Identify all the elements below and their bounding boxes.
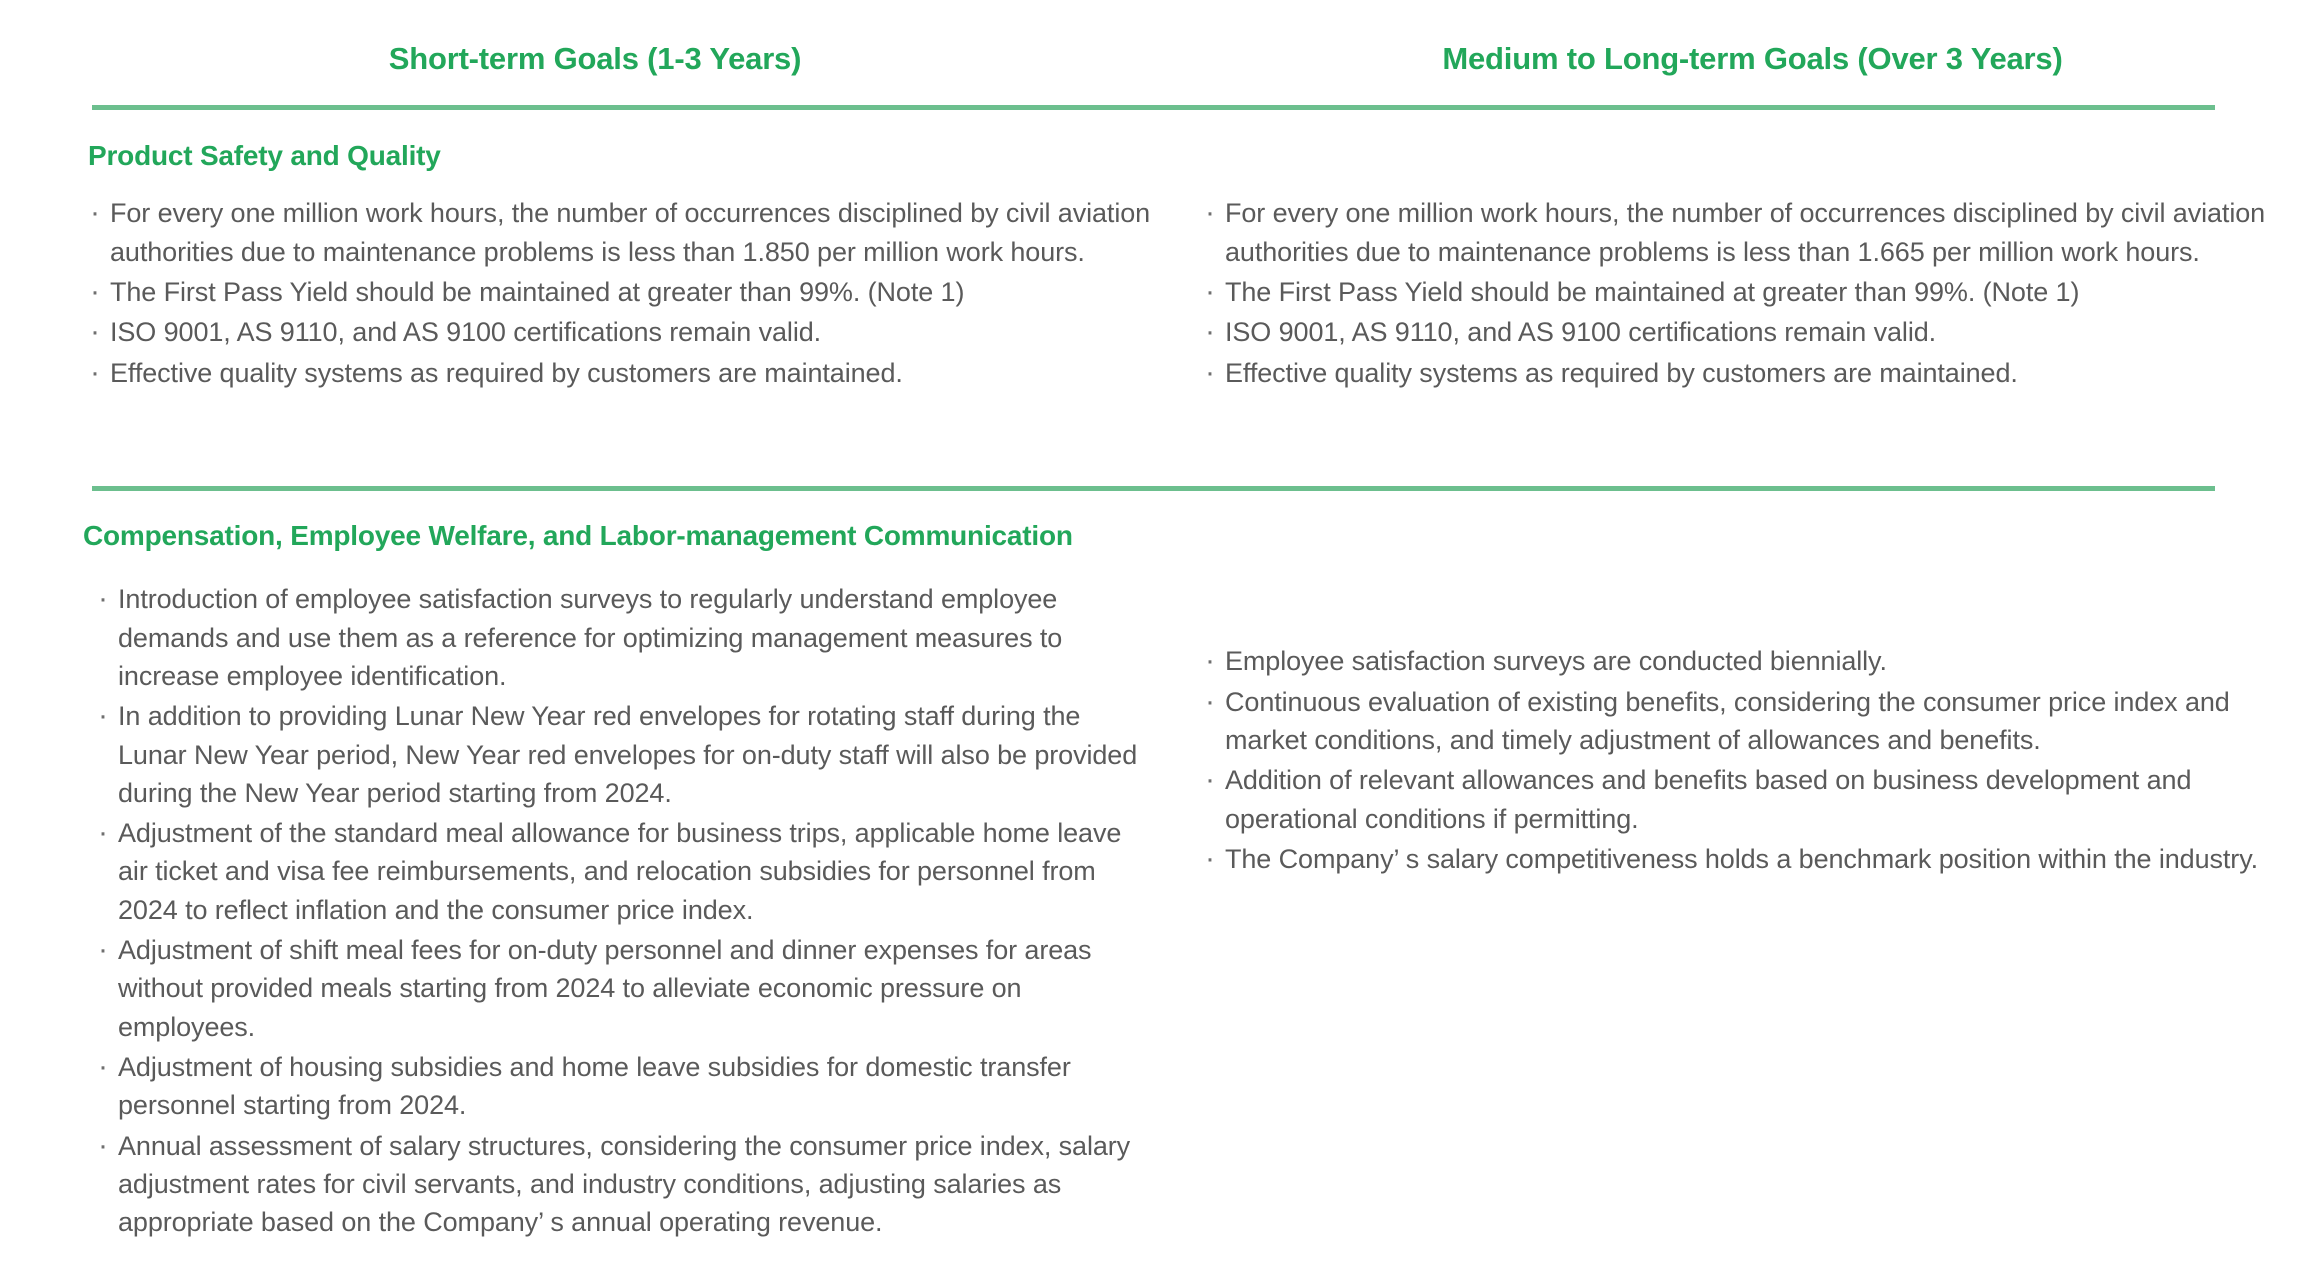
list-item: Adjustment of housing subsidies and home… (96, 1048, 1150, 1125)
list-item: Annual assessment of salary structures, … (96, 1127, 1150, 1242)
header-divider-rule (92, 105, 2215, 110)
short-term-bullet-list: For every one million work hours, the nu… (88, 194, 1160, 392)
list-item: For every one million work hours, the nu… (1203, 194, 2305, 271)
medium-long-term-bullet-list: For every one million work hours, the nu… (1203, 194, 2305, 392)
goals-table-page: Short-term Goals (1-3 Years) Medium to L… (0, 0, 2315, 1287)
list-item: Introduction of employee satisfaction su… (96, 580, 1150, 695)
list-item: Employee satisfaction surveys are conduc… (1203, 642, 2305, 680)
short-term-bullet-list: Introduction of employee satisfaction su… (96, 580, 1150, 1242)
list-item: Adjustment of shift meal fees for on-dut… (96, 931, 1150, 1046)
section-columns: For every one million work hours, the nu… (0, 172, 2315, 394)
section-compensation-welfare-labor: Compensation, Employee Welfare, and Labo… (0, 520, 2315, 1244)
section-title: Compensation, Employee Welfare, and Labo… (0, 520, 2315, 552)
list-item: The First Pass Yield should be maintaine… (88, 273, 1160, 311)
list-item: For every one million work hours, the nu… (88, 194, 1160, 271)
section-title: Product Safety and Quality (0, 140, 2315, 172)
list-item: Effective quality systems as required by… (88, 354, 1160, 392)
column-header-row: Short-term Goals (1-3 Years) Medium to L… (0, 0, 2315, 76)
section-columns: Introduction of employee satisfaction su… (0, 552, 2315, 1244)
column-header-short-term: Short-term Goals (1-3 Years) (0, 42, 1190, 76)
list-item: ISO 9001, AS 9110, and AS 9100 certifica… (1203, 313, 2305, 351)
list-item: Continuous evaluation of existing benefi… (1203, 683, 2305, 760)
list-item: ISO 9001, AS 9110, and AS 9100 certifica… (88, 313, 1160, 351)
column-header-medium-long-term: Medium to Long-term Goals (Over 3 Years) (1190, 42, 2315, 76)
list-item: In addition to providing Lunar New Year … (96, 697, 1150, 812)
section-divider-rule (92, 486, 2215, 491)
medium-long-term-bullet-list: Employee satisfaction surveys are conduc… (1203, 642, 2305, 878)
short-term-column: Introduction of employee satisfaction su… (0, 552, 1190, 1244)
short-term-column: For every one million work hours, the nu… (0, 172, 1190, 394)
list-item: Adjustment of the standard meal allowanc… (96, 814, 1150, 929)
list-item: The Company’ s salary competitiveness ho… (1203, 840, 2305, 878)
list-item: Effective quality systems as required by… (1203, 354, 2305, 392)
list-item: The First Pass Yield should be maintaine… (1203, 273, 2305, 311)
list-item: Addition of relevant allowances and bene… (1203, 761, 2305, 838)
section-product-safety-and-quality: Product Safety and Quality For every one… (0, 140, 2315, 394)
